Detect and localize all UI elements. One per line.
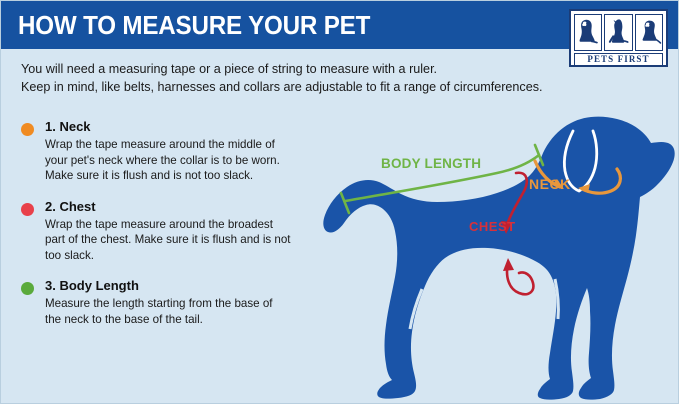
- begging-dog-icon: [604, 14, 632, 51]
- step-desc-neck: Wrap the tape measure around the middle …: [45, 137, 291, 184]
- logo-wordmark: PETS FIRST: [574, 53, 663, 66]
- step-body-neck: 1. Neck Wrap the tape measure around the…: [45, 119, 291, 184]
- standing-dog-icon: [635, 14, 663, 51]
- infographic-page: HOW TO MEASURE YOUR PET: [0, 0, 679, 404]
- step-body-chest: 2. Chest Wrap the tape measure around th…: [45, 199, 291, 264]
- list-item-body-length: 3. Body Length Measure the length starti…: [21, 278, 291, 327]
- list-item-chest: 2. Chest Wrap the tape measure around th…: [21, 199, 291, 264]
- measurement-steps-list: 1. Neck Wrap the tape measure around the…: [21, 119, 291, 342]
- list-item-neck: 1. Neck Wrap the tape measure around the…: [21, 119, 291, 184]
- bullet-dot-neck: [21, 123, 34, 136]
- dog-silhouette-svg: [301, 101, 679, 401]
- dog-silhouette-icon: [323, 117, 674, 400]
- dog-diagram: BODY LENGTH NECK CHEST: [301, 101, 679, 401]
- step-body-body-length: 3. Body Length Measure the length starti…: [45, 278, 291, 327]
- step-desc-chest: Wrap the tape measure around the broades…: [45, 217, 291, 264]
- label-chest: CHEST: [469, 219, 516, 234]
- intro-text: You will need a measuring tape or a piec…: [21, 60, 561, 96]
- brand-logo: PETS FIRST: [569, 9, 668, 67]
- bullet-dot-chest: [21, 203, 34, 216]
- bullet-dot-body-length: [21, 282, 34, 295]
- logo-icon-row: [574, 14, 663, 51]
- intro-line-2: Keep in mind, like belts, harnesses and …: [21, 78, 561, 96]
- step-title-chest: 2. Chest: [45, 199, 291, 214]
- label-body-length: BODY LENGTH: [381, 156, 481, 171]
- page-title: HOW TO MEASURE YOUR PET: [18, 10, 370, 40]
- sitting-dog-icon: [574, 14, 602, 51]
- step-title-neck: 1. Neck: [45, 119, 291, 134]
- intro-line-1: You will need a measuring tape or a piec…: [21, 60, 561, 78]
- label-neck: NECK: [529, 176, 571, 192]
- step-title-body-length: 3. Body Length: [45, 278, 291, 293]
- step-desc-body-length: Measure the length starting from the bas…: [45, 296, 291, 327]
